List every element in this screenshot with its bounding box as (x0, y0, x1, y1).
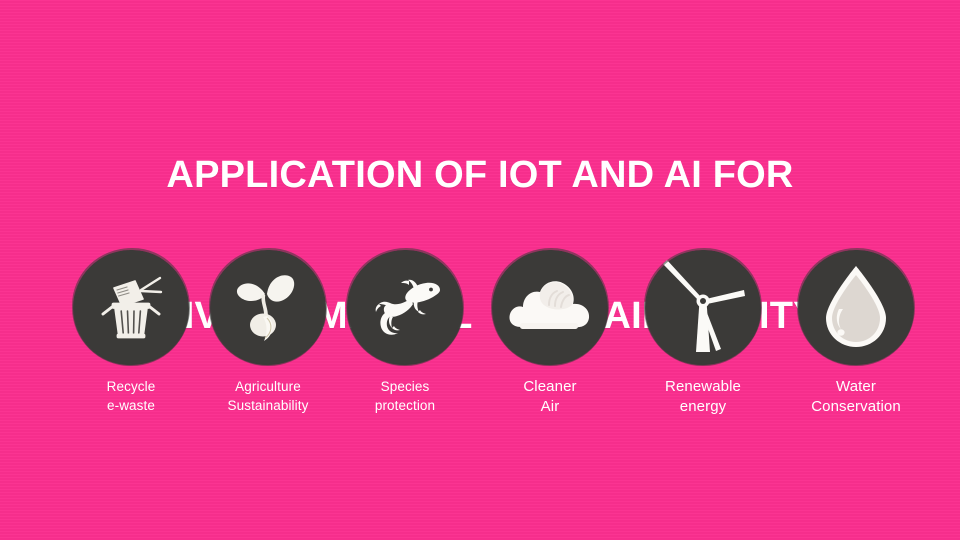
icon-label: Agriculture Sustainability (193, 377, 343, 415)
badge-circle (799, 250, 913, 364)
cloud-icon (507, 275, 593, 339)
icon-item-species-protection[interactable]: Species protection (330, 250, 480, 415)
icon-label: Water Conservation (781, 377, 931, 417)
icon-item-renewable-energy[interactable]: Renewable energy (628, 250, 778, 417)
badge-circle (493, 250, 607, 364)
badge-circle (348, 250, 462, 364)
wind-turbine-icon (658, 257, 748, 357)
lizard-icon (366, 270, 444, 344)
title-line-1: APPLICATION OF IOT AND AI FOR (0, 152, 960, 199)
presentation-slide: APPLICATION OF IOT AND AI FOR ENVIRONMEN… (0, 0, 960, 540)
icon-row: Recycle e-waste (0, 250, 960, 450)
icon-item-agriculture-sustainability[interactable]: Agriculture Sustainability (193, 250, 343, 415)
icon-label: Species protection (330, 377, 480, 415)
water-droplet-icon (820, 264, 892, 350)
icon-label: Cleaner Air (475, 377, 625, 417)
icon-item-recycle-e-waste[interactable]: Recycle e-waste (56, 250, 206, 415)
icon-item-water-conservation[interactable]: Water Conservation (781, 250, 931, 417)
icon-label: Recycle e-waste (56, 377, 206, 415)
e-waste-bin-icon (94, 270, 168, 344)
badge-circle (646, 250, 760, 364)
badge-circle (74, 250, 188, 364)
icon-label: Renewable energy (628, 377, 778, 417)
icon-item-cleaner-air[interactable]: Cleaner Air (475, 250, 625, 417)
seedling-sprout-icon (231, 267, 305, 347)
badge-circle (211, 250, 325, 364)
